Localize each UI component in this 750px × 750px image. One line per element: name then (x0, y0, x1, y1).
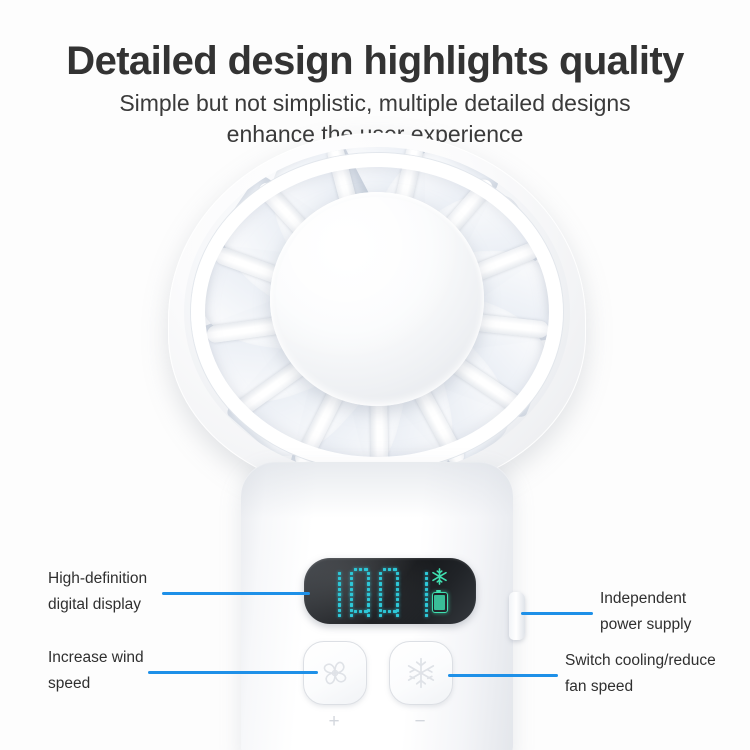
callout-line-connector (162, 592, 310, 595)
display-segment (383, 568, 397, 571)
callout-high-definition-digital-display: High-definition digital display (48, 566, 147, 618)
callout-independent-power-supply: Independent power supply (600, 586, 691, 638)
display-digits (320, 568, 429, 613)
snowflake-icon (402, 654, 440, 692)
callout-line-2: power supply (600, 612, 691, 638)
display-digit (378, 568, 400, 613)
display-segment (354, 568, 368, 571)
display-segment (338, 593, 341, 617)
display-segment (350, 572, 353, 596)
callout-line-1: High-definition (48, 566, 147, 592)
display-segment (379, 572, 382, 596)
decrease-mark: − (405, 712, 435, 731)
callout-increase-wind-speed: Increase wind speed (48, 645, 144, 697)
callout-line-connector (148, 671, 318, 674)
callout-line-1: Increase wind (48, 645, 144, 671)
cooling-button[interactable] (389, 641, 453, 705)
digital-display-panel (304, 558, 476, 624)
product-infographic: Detailed design highlights quality Simpl… (0, 0, 750, 750)
display-segment (396, 593, 399, 617)
display-segment (425, 593, 428, 617)
display-segment (354, 610, 368, 613)
display-segment (383, 610, 397, 613)
display-segment (350, 593, 353, 617)
callout-line-1: Independent (600, 586, 691, 612)
increase-mark: + (319, 712, 349, 731)
callout-line-connector (448, 674, 558, 677)
fan-hub (270, 192, 484, 406)
display-status-icons (430, 567, 449, 613)
battery-icon (432, 592, 448, 613)
callout-line-2: speed (48, 671, 144, 697)
fan-head (168, 133, 586, 493)
fan-blade-icon (316, 654, 354, 692)
snowflake-icon (430, 567, 449, 586)
power-supply-button[interactable] (509, 592, 525, 640)
callout-line-connector (521, 612, 593, 615)
callout-line-2: fan speed (565, 674, 716, 700)
callout-line-1: Switch cooling/reduce (565, 648, 716, 674)
fan-grille (184, 147, 570, 477)
display-digit (407, 568, 429, 613)
display-segment (367, 593, 370, 617)
handle-shading (241, 462, 513, 518)
display-digit (320, 568, 342, 613)
display-segment (379, 593, 382, 617)
callout-line-2: digital display (48, 592, 147, 618)
callout-switch-cooling-reduce-fan-speed: Switch cooling/reduce fan speed (565, 648, 716, 700)
display-digit (349, 568, 371, 613)
